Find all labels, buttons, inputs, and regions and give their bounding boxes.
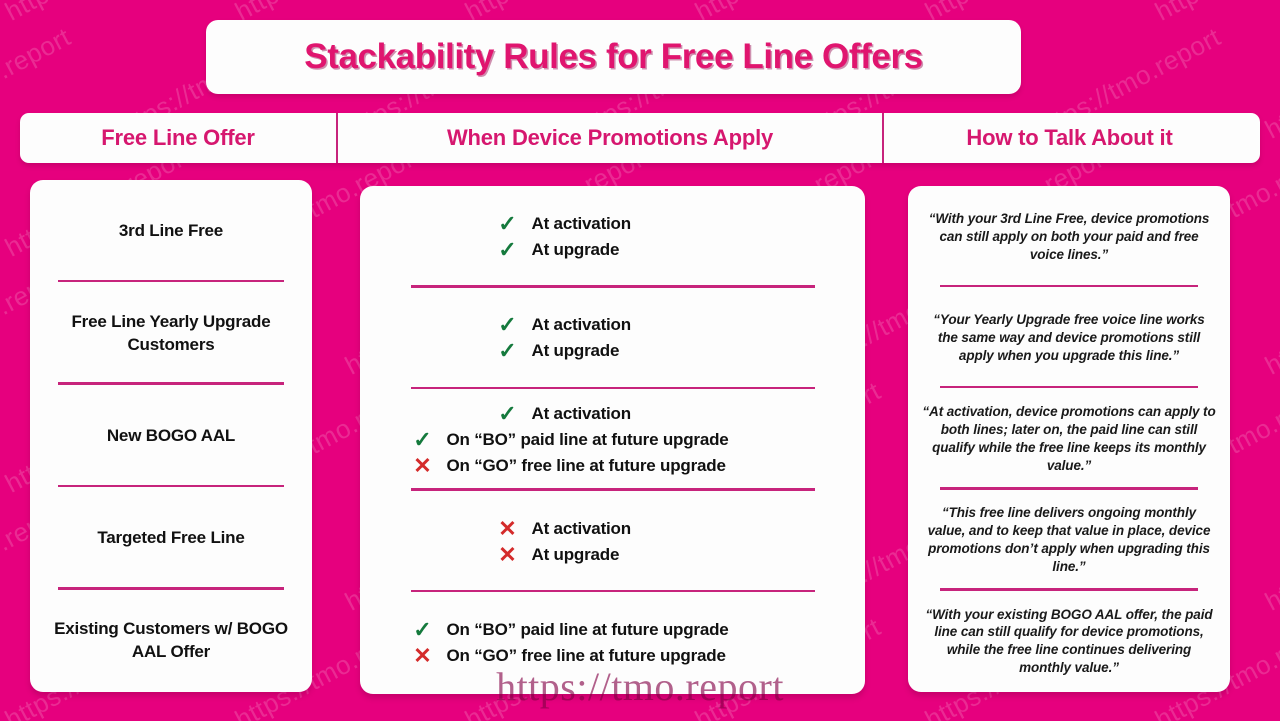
talk-track-row: “With your 3rd Line Free, device promoti… bbox=[908, 186, 1230, 287]
check-icon: ✓ bbox=[498, 239, 518, 261]
check-icon: ✓ bbox=[498, 403, 518, 425]
cross-icon: ✕ bbox=[413, 645, 433, 667]
offer-row: New BOGO AAL bbox=[30, 385, 312, 487]
offer-row: Existing Customers w/ BOGO AAL Offer bbox=[30, 590, 312, 692]
check-icon: ✓ bbox=[498, 314, 518, 336]
talk-track-quote: “This free line delivers ongoing monthly… bbox=[908, 504, 1230, 576]
condition-label: On “GO” free line at future upgrade bbox=[447, 456, 726, 476]
offer-label: Targeted Free Line bbox=[83, 527, 258, 549]
page-title: Stackability Rules for Free Line Offers bbox=[304, 37, 923, 77]
condition-label: At upgrade bbox=[532, 545, 620, 565]
column-header-when-device-promotions-apply: When Device Promotions Apply bbox=[336, 113, 884, 163]
cross-icon: ✕ bbox=[498, 544, 518, 566]
watermark-text: https://tmo.report bbox=[0, 0, 196, 27]
cross-icon: ✕ bbox=[413, 455, 433, 477]
condition-label: At upgrade bbox=[532, 240, 620, 260]
condition-label: On “GO” free line at future upgrade bbox=[447, 646, 726, 666]
talk-track-quote: “At activation, device promotions can ap… bbox=[908, 403, 1230, 475]
check-icon: ✓ bbox=[413, 619, 433, 641]
how-to-talk-card: “With your 3rd Line Free, device promoti… bbox=[908, 186, 1230, 692]
condition-label: At upgrade bbox=[532, 341, 620, 361]
free-line-offer-card: 3rd Line FreeFree Line Yearly Upgrade Cu… bbox=[30, 180, 312, 692]
condition-label: At activation bbox=[532, 214, 631, 234]
talk-track-row: “Your Yearly Upgrade free voice line wor… bbox=[908, 287, 1230, 388]
condition-item: ✓On “BO” paid line at future upgrade bbox=[413, 619, 813, 641]
condition-row: ✓At activation✓At upgrade bbox=[360, 186, 865, 288]
offer-label: New BOGO AAL bbox=[93, 425, 249, 447]
condition-item: ✓At upgrade bbox=[498, 340, 728, 362]
condition-list: ✓At activation✓At upgrade bbox=[360, 314, 865, 362]
check-icon: ✓ bbox=[498, 213, 518, 235]
condition-item: ✓On “BO” paid line at future upgrade bbox=[413, 429, 813, 451]
condition-item: ✕On “GO” free line at future upgrade bbox=[413, 645, 813, 667]
offer-row: Free Line Yearly Upgrade Customers bbox=[30, 282, 312, 384]
watermark-text: https://tmo.report bbox=[1150, 0, 1280, 27]
condition-row: ✓At activation✓At upgrade bbox=[360, 288, 865, 390]
offer-label: 3rd Line Free bbox=[105, 220, 237, 242]
watermark-text: https://tmo.report bbox=[1260, 22, 1280, 146]
condition-item: ✓At activation bbox=[498, 403, 728, 425]
offer-label: Free Line Yearly Upgrade Customers bbox=[30, 311, 312, 356]
talk-track-quote: “With your existing BOGO AAL offer, the … bbox=[908, 606, 1230, 678]
column-header-free-line-offer: Free Line Offer bbox=[20, 113, 336, 163]
condition-row: ✕At activation✕At upgrade bbox=[360, 491, 865, 593]
watermark-text: https://tmo.report bbox=[1260, 258, 1280, 382]
condition-item: ✓At activation bbox=[498, 213, 728, 235]
condition-label: At activation bbox=[532, 315, 631, 335]
condition-item: ✓At upgrade bbox=[498, 239, 728, 261]
talk-track-quote: “Your Yearly Upgrade free voice line wor… bbox=[908, 311, 1230, 365]
offer-label: Existing Customers w/ BOGO AAL Offer bbox=[30, 618, 312, 663]
check-icon: ✓ bbox=[413, 429, 433, 451]
column-header-row: Free Line Offer When Device Promotions A… bbox=[20, 113, 1260, 163]
device-promotions-card: ✓At activation✓At upgrade✓At activation✓… bbox=[360, 186, 865, 694]
condition-label: At activation bbox=[532, 519, 631, 539]
condition-label: On “BO” paid line at future upgrade bbox=[447, 620, 729, 640]
talk-track-row: “With your existing BOGO AAL offer, the … bbox=[908, 591, 1230, 692]
talk-track-row: “This free line delivers ongoing monthly… bbox=[908, 490, 1230, 591]
condition-list: ✓At activation✓At upgrade bbox=[360, 213, 865, 261]
talk-track-row: “At activation, device promotions can ap… bbox=[908, 388, 1230, 489]
condition-item: ✕At upgrade bbox=[498, 544, 728, 566]
watermark-text: https://tmo.report bbox=[1260, 494, 1280, 618]
cross-icon: ✕ bbox=[498, 518, 518, 540]
condition-list: ✓On “BO” paid line at future upgrade✕On … bbox=[360, 619, 865, 667]
page-title-bar: Stackability Rules for Free Line Offers bbox=[206, 20, 1021, 94]
offer-row: 3rd Line Free bbox=[30, 180, 312, 282]
condition-item: ✕At activation bbox=[498, 518, 728, 540]
column-header-how-to-talk-about-it: How to Talk About it bbox=[884, 113, 1255, 163]
condition-row: ✓At activation✓On “BO” paid line at futu… bbox=[360, 389, 865, 491]
condition-item: ✓At activation bbox=[498, 314, 728, 336]
condition-list: ✓At activation✓On “BO” paid line at futu… bbox=[360, 403, 865, 477]
check-icon: ✓ bbox=[498, 340, 518, 362]
condition-row: ✓On “BO” paid line at future upgrade✕On … bbox=[360, 592, 865, 694]
condition-item: ✕On “GO” free line at future upgrade bbox=[413, 455, 813, 477]
condition-label: At activation bbox=[532, 404, 631, 424]
condition-list: ✕At activation✕At upgrade bbox=[360, 518, 865, 566]
offer-row: Targeted Free Line bbox=[30, 487, 312, 589]
talk-track-quote: “With your 3rd Line Free, device promoti… bbox=[908, 210, 1230, 264]
condition-label: On “BO” paid line at future upgrade bbox=[447, 430, 729, 450]
